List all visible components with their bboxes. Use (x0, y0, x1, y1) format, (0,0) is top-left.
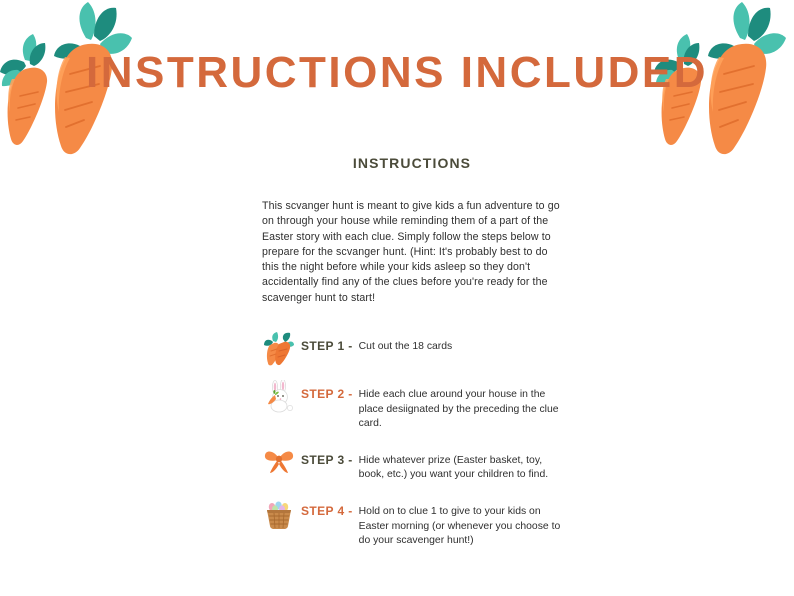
list-item: STEP 4 - Hold on to clue 1 to give to yo… (262, 497, 562, 549)
easter-basket-icon (262, 497, 296, 531)
steps-list: STEP 1 - Cut out the 18 cards (262, 332, 562, 549)
page-title: INSTRUCTIONS INCLUDED (0, 48, 794, 98)
step-body: STEP 1 - Cut out the 18 cards (301, 332, 452, 355)
instructions-page: INSTRUCTIONS INCLUDED INSTRUCTIONS This … (0, 0, 794, 596)
step-label: STEP 2 - (301, 387, 353, 401)
step-text: Cut out the 18 cards (359, 339, 453, 355)
list-item: STEP 1 - Cut out the 18 cards (262, 332, 562, 366)
step-body: STEP 2 - Hide each clue around your hous… (301, 380, 562, 432)
step-label: STEP 4 - (301, 504, 353, 518)
instructions-content: INSTRUCTIONS This scvanger hunt is meant… (262, 155, 562, 563)
list-item: STEP 3 - Hide whatever prize (Easter bas… (262, 446, 562, 483)
step-text: Hide whatever prize (Easter basket, toy,… (359, 453, 562, 483)
step-label: STEP 1 - (301, 339, 353, 353)
list-item: STEP 2 - Hide each clue around your hous… (262, 380, 562, 432)
step-body: STEP 4 - Hold on to clue 1 to give to yo… (301, 497, 562, 549)
step-text: Hold on to clue 1 to give to your kids o… (359, 504, 562, 549)
ribbon-bow-icon (262, 446, 296, 480)
section-heading: INSTRUCTIONS (262, 155, 562, 171)
carrot-pair-icon (262, 332, 296, 366)
step-text: Hide each clue around your house in the … (359, 387, 562, 432)
step-body: STEP 3 - Hide whatever prize (Easter bas… (301, 446, 562, 483)
step-label: STEP 3 - (301, 453, 353, 467)
intro-paragraph: This scvanger hunt is meant to give kids… (262, 199, 562, 306)
bunny-with-carrot-icon (262, 380, 296, 414)
